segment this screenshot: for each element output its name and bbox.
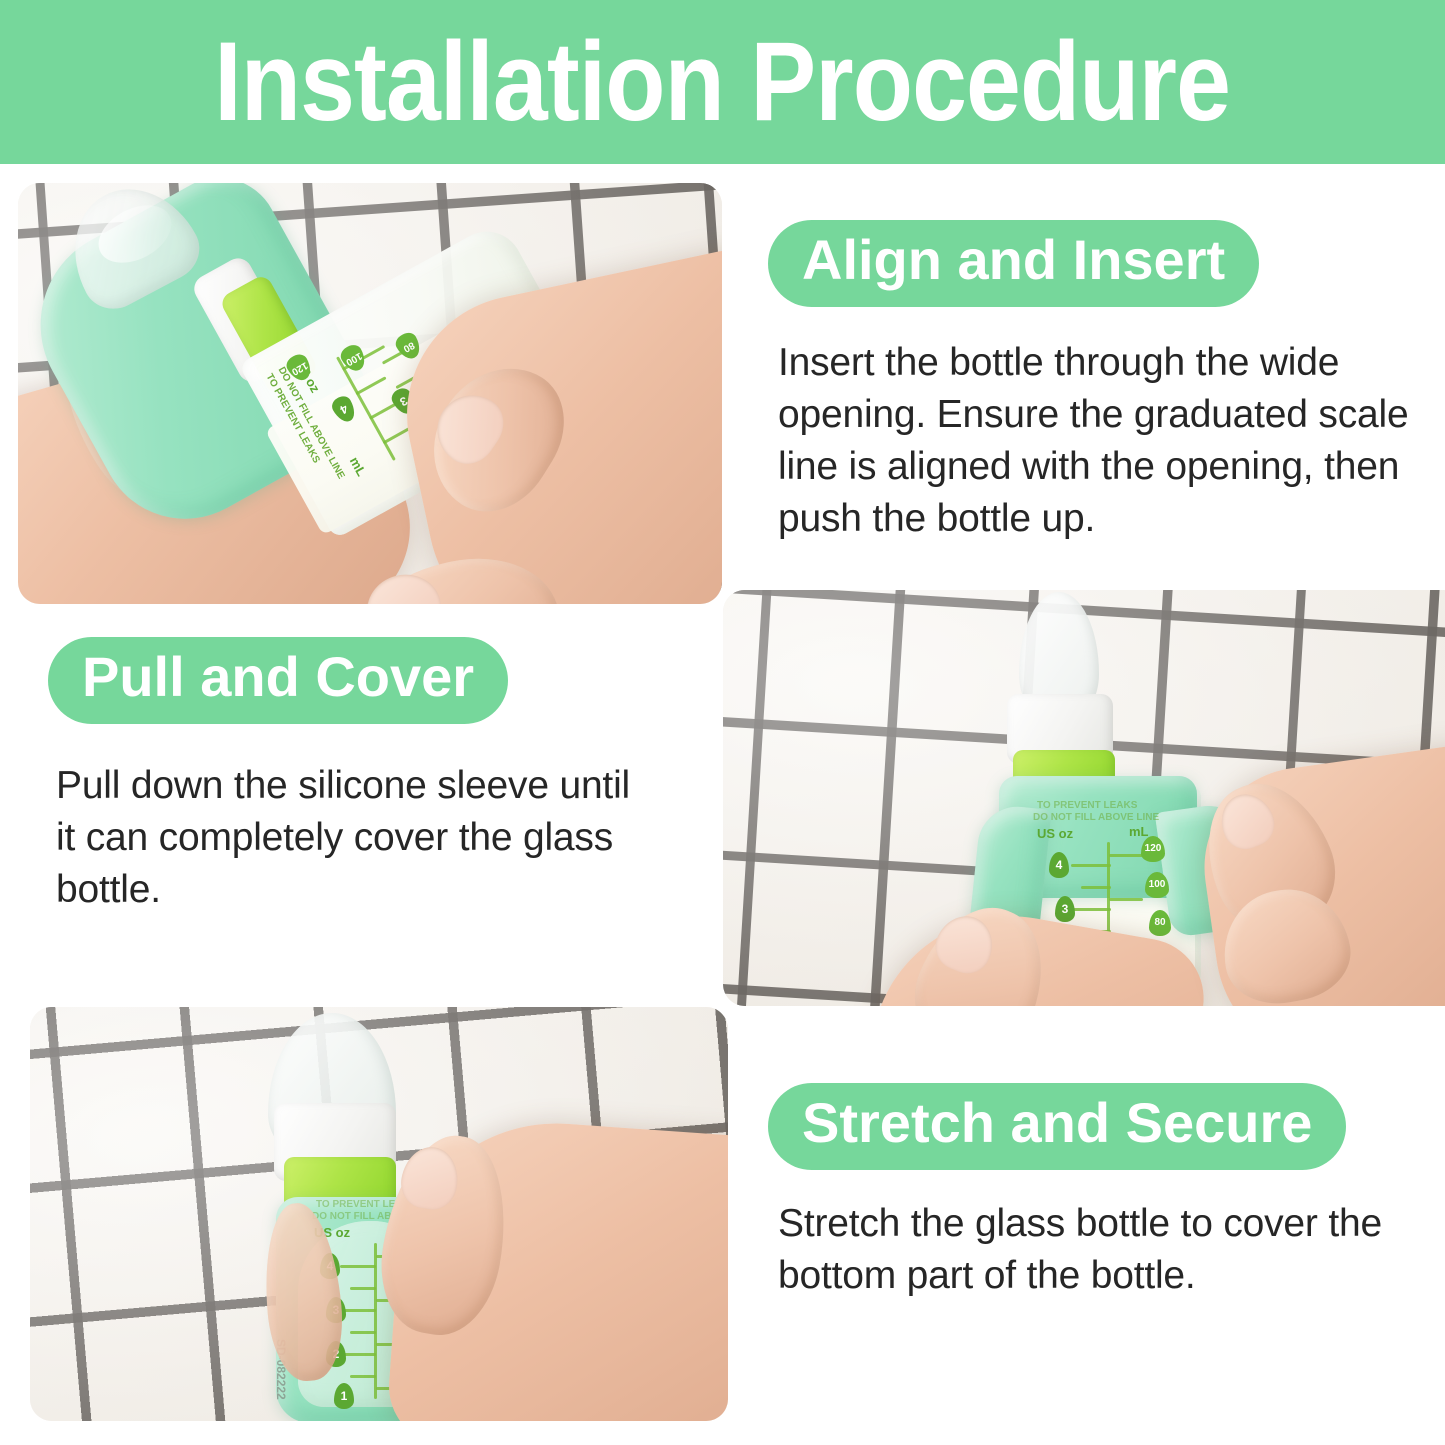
bottle-warning-line-1: TO PREVENT LEAKS <box>1037 800 1137 813</box>
scale-mark-ml: 100 <box>1145 872 1169 898</box>
scale-tick <box>1071 908 1111 911</box>
photo-step-3: TO PREVENT LEAKS DO NOT FILL ABOVE LINE … <box>30 1007 728 1421</box>
scale-mark-oz: 3 <box>1055 896 1075 922</box>
scale-tick <box>350 1331 376 1334</box>
infographic-page: Installation Procedure Align and Insert … <box>0 0 1445 1445</box>
scale-tick <box>350 1375 376 1378</box>
scale-mark-ml: 80 <box>1149 910 1171 936</box>
scale-mark-oz: 4 <box>1049 852 1069 878</box>
scale-tick <box>1109 898 1143 901</box>
photo-step-2: TO PREVENT LEAKS DO NOT FILL ABOVE LINE … <box>723 590 1445 1006</box>
step-body-stretch-and-secure: Stretch the glass bottle to cover the bo… <box>778 1198 1438 1302</box>
step-body-pull-and-cover: Pull down the silicone sleeve until it c… <box>56 760 636 916</box>
step-badge-align-and-insert: Align and Insert <box>768 220 1259 307</box>
scale-mark-ml: 120 <box>1141 836 1165 862</box>
scale-tick <box>1109 854 1143 857</box>
page-title: Installation Procedure <box>215 26 1231 138</box>
step-badge-pull-and-cover: Pull and Cover <box>48 637 508 724</box>
scale-tick <box>350 1287 376 1290</box>
unit-label-oz: US oz <box>1037 826 1073 841</box>
scale-mark-oz: 1 <box>334 1383 354 1409</box>
unit-label-ml: mL <box>347 454 370 478</box>
photo-step-1: TO PREVENT LEAKS DO NOT FILL ABOVE LINE … <box>18 183 722 604</box>
scale-mark-ml: 80 <box>393 329 425 362</box>
scale-mark-oz: 4 <box>329 393 359 425</box>
header-banner: Installation Procedure <box>0 0 1445 164</box>
unit-label-ml: mL <box>1129 824 1149 839</box>
bottle-warning-line-2: DO NOT FILL ABOVE LINE <box>1033 812 1159 825</box>
scale-tick <box>340 1265 376 1268</box>
step-badge-stretch-and-secure: Stretch and Secure <box>768 1083 1346 1170</box>
scale-tick <box>355 376 386 395</box>
scale-tick <box>1071 864 1111 867</box>
step-body-align-and-insert: Insert the bottle through the wide openi… <box>778 337 1420 544</box>
scale-tick <box>1081 886 1111 889</box>
